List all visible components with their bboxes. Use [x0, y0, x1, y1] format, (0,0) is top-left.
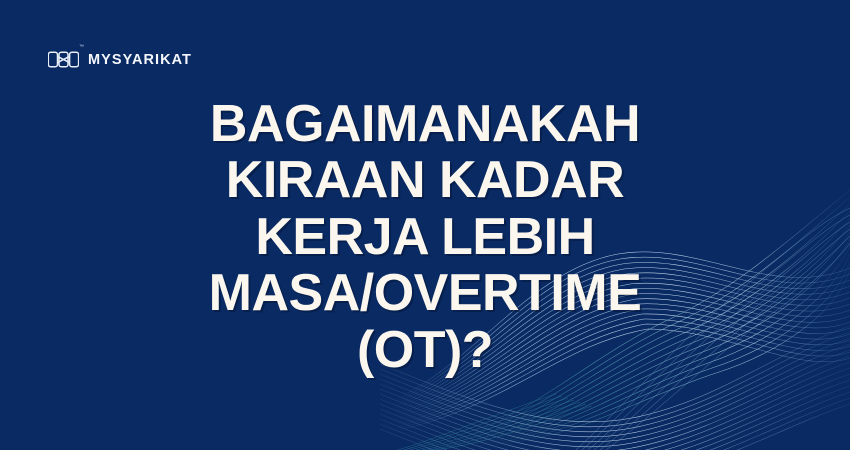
- headline-line-4: MASA/OVERTIME: [40, 265, 810, 321]
- headline-line-3: KERJA LEBIH: [40, 209, 810, 265]
- headline-line-2: KIRAAN KADAR: [40, 152, 810, 208]
- headline-line-1: BAGAIMANAKAH: [40, 96, 810, 152]
- page-title: BAGAIMANAKAH KIRAAN KADAR KERJA LEBIH MA…: [0, 96, 850, 378]
- brand-name: MYSYARIKAT: [88, 52, 192, 68]
- trademark-symbol: ™: [79, 45, 84, 50]
- brand-logo[interactable]: ™ MYSYARIKAT: [48, 47, 192, 72]
- headline-line-5: (OT)?: [40, 322, 810, 378]
- article-banner: ™ MYSYARIKAT BAGAIMANAKAH KIRAAN KADAR K…: [0, 0, 850, 450]
- mysyarikat-logo-mark-icon: ™: [48, 47, 79, 72]
